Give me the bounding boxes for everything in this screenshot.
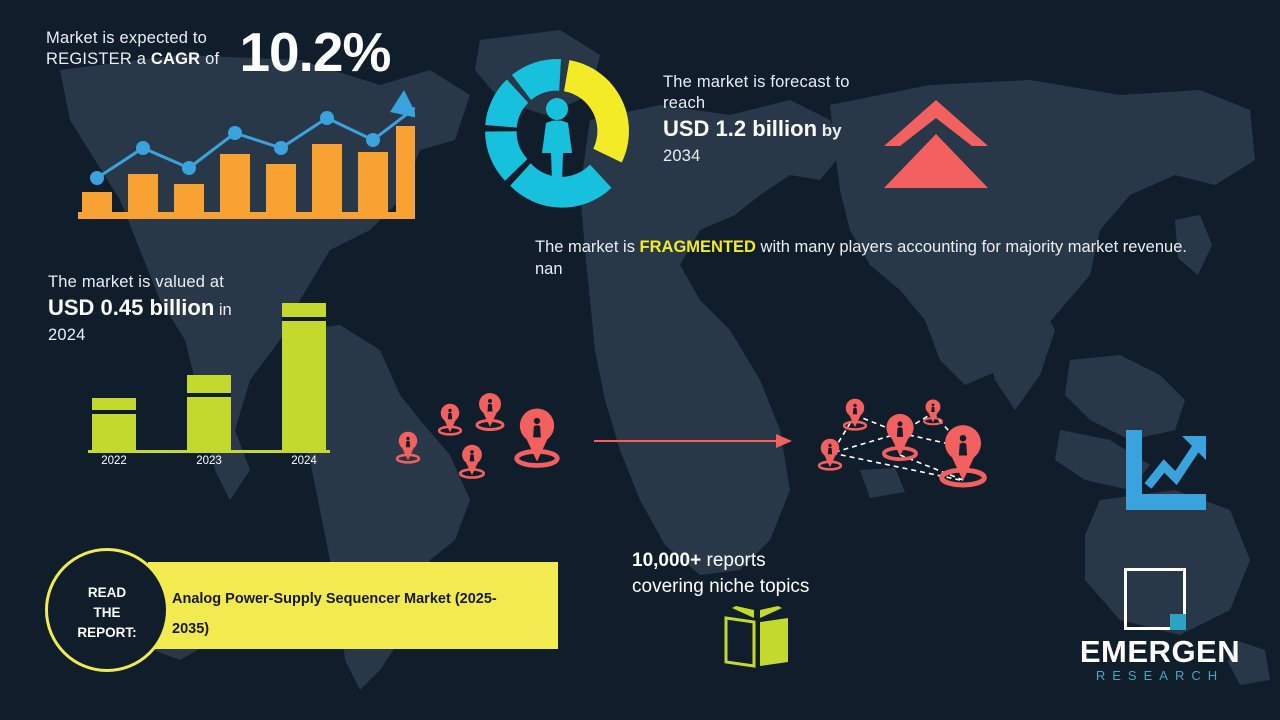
forecast-value: USD 1.2 billion xyxy=(663,116,817,141)
pin-medium-1 xyxy=(477,393,503,430)
reports-count: 10,000+ xyxy=(632,550,701,571)
value-chart-label-2022: 2022 xyxy=(92,455,136,467)
cta-line-1: READ xyxy=(88,585,126,600)
reports-count-suffix: reports xyxy=(701,550,765,571)
reports-line-2: covering niche topics xyxy=(632,574,809,600)
donut-slice-cyan-3 xyxy=(485,131,527,181)
value-chart-label-2024: 2024 xyxy=(282,455,326,467)
cagr-line2-post: of xyxy=(200,50,219,68)
pin-node-5 xyxy=(942,425,985,485)
pin-small-3 xyxy=(460,445,483,478)
pin-node-1 xyxy=(844,399,866,430)
pin-large-1 xyxy=(517,408,558,465)
cagr-text-block: Market is expected to REGISTER a CAGR of… xyxy=(46,24,466,80)
reports-text-block: 10,000+ reports covering niche topics xyxy=(632,548,809,600)
donut-slice-yellow xyxy=(564,60,629,162)
pin-small-1 xyxy=(397,432,419,463)
report-banner[interactable]: Analog Power-Supply Sequencer Market (20… xyxy=(148,562,558,649)
trend-arrow-icon xyxy=(1122,428,1208,512)
reports-line-1: 10,000+ reports xyxy=(632,548,809,574)
right-arrow-icon xyxy=(594,430,794,452)
value-chart-label-2023: 2023 xyxy=(187,455,231,467)
read-the-report-button[interactable]: READTHEREPORT: xyxy=(45,548,169,672)
logo-subtitle: RESEARCH xyxy=(1062,668,1258,683)
emergen-research-logo: EMERGEN RESEARCH xyxy=(1062,568,1258,700)
read-the-report-label: READTHEREPORT: xyxy=(48,583,166,643)
market-value-bar-chart xyxy=(80,295,330,455)
forecast-year: 2034 xyxy=(663,146,903,167)
forecast-text-block: The market is forecast to reach USD 1.2 … xyxy=(663,72,903,167)
forecast-value-row: USD 1.2 billion by xyxy=(663,114,903,146)
growth-trend-arrowhead xyxy=(390,90,415,118)
value-chart-baseline xyxy=(88,450,330,453)
cta-line-3: REPORT: xyxy=(77,625,136,640)
cagr-line-2: REGISTER a CAGR of xyxy=(46,49,231,70)
double-up-arrow-icon xyxy=(880,96,992,192)
cta-line-2: THE xyxy=(94,605,121,620)
person-icon xyxy=(542,98,572,181)
logo-accent-square xyxy=(1170,614,1186,630)
cagr-value: 10.2% xyxy=(239,24,390,80)
fragmented-text-block: The market is FRAGMENTED with many playe… xyxy=(535,236,1215,280)
open-book-icon xyxy=(724,606,790,668)
location-pins-cluster-left xyxy=(380,388,570,498)
infographic-canvas: Market is expected to REGISTER a CAGR of… xyxy=(0,0,1280,720)
growth-bar-chart xyxy=(70,88,415,220)
fragmented-pre: The market is xyxy=(535,238,640,256)
share-donut-chart xyxy=(468,42,646,220)
growth-chart-baseline xyxy=(78,212,415,219)
report-title: Analog Power-Supply Sequencer Market (20… xyxy=(172,584,522,644)
pin-node-3 xyxy=(819,439,841,470)
cagr-line2-pre: REGISTER a xyxy=(46,50,151,68)
location-pins-network-right xyxy=(800,385,1010,505)
forecast-by-label: by xyxy=(817,121,842,140)
valuation-line-1: The market is valued at xyxy=(48,272,328,293)
value-chart-bars xyxy=(92,303,326,450)
logo-name: EMERGEN xyxy=(1062,634,1258,670)
forecast-line-2: reach xyxy=(663,93,903,114)
cagr-line-1: Market is expected to xyxy=(46,28,231,49)
pin-small-2 xyxy=(439,404,461,435)
forecast-line-1: The market is forecast to xyxy=(663,72,903,93)
cagr-caption: Market is expected to REGISTER a CAGR of xyxy=(46,24,231,70)
cagr-keyword: CAGR xyxy=(151,50,200,68)
fragmented-highlight: FRAGMENTED xyxy=(640,238,756,256)
